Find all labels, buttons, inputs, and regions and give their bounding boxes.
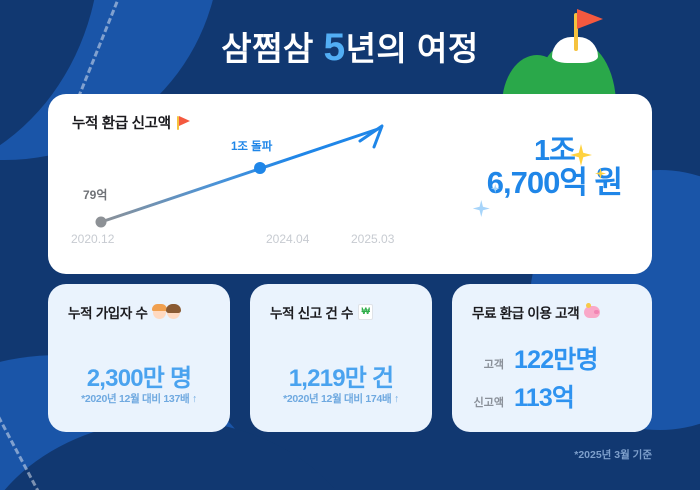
- total-refund-amount: 1조 6,700억 원: [487, 136, 622, 200]
- chart-xtick-2025-03: 2025.03: [351, 232, 394, 246]
- free-refund-row-customers: 고객 122만명: [470, 340, 598, 376]
- sparkle-icon-1: [570, 144, 592, 166]
- page-title-suffix: 년의 여정: [346, 30, 479, 67]
- free-refund-customers-label: 무료 환급 이용 고객: [472, 302, 600, 322]
- chart-point-label-2024-04: 1조 돌파: [231, 138, 272, 154]
- sparkle-icon-4: [491, 184, 500, 193]
- chart-xtick-2020-12: 2020.12: [71, 232, 114, 246]
- footer-note: *2025년 3월 기준: [574, 447, 652, 462]
- free-refund-customers-label-text: 무료 환급 이용 고객: [472, 302, 579, 322]
- total-refund-amount-line1: 1조: [487, 136, 622, 167]
- cumulative-filings-label-text: 누적 신고 건 수: [270, 302, 353, 322]
- cumulative-filings-note: *2020년 12월 대비 174배 ↑: [250, 391, 432, 406]
- growth-line-chart: 79억 1조 돌파 2020.12 2024.04 2025.03: [48, 94, 468, 274]
- cumulative-subscribers-card: 누적 가입자 수 2,300만 명 *2020년 12월 대비 137배 ↑: [48, 284, 230, 432]
- free-refund-row-amount-key: 신고액: [470, 394, 504, 410]
- sparkle-icon-2: [595, 168, 606, 179]
- cumulative-subscribers-value: 2,300만 명: [48, 358, 230, 393]
- chart-point-2024-04: [254, 162, 266, 174]
- cumulative-subscribers-label: 누적 가입자 수: [68, 302, 180, 322]
- chart-arrowhead-icon: [360, 126, 382, 147]
- sparkle-icon-3: [473, 200, 490, 217]
- growth-line-chart-svg: [48, 94, 468, 274]
- chart-point-label-2020-12: 79억: [83, 186, 107, 203]
- chart-point-2020-12: [96, 217, 107, 228]
- page-title-highlight: 5: [323, 26, 345, 69]
- page-title: 삼쩜삼 5년의 여정: [0, 22, 700, 70]
- free-refund-row-amount-value: 113억: [514, 378, 574, 414]
- people-icon: [153, 306, 180, 319]
- piggy-bank-icon: [584, 306, 600, 318]
- infographic-canvas: 삼쩜삼 5년의 여정 누적 환급 신고액: [0, 0, 700, 490]
- money-note-icon: ₩: [358, 304, 373, 320]
- free-refund-row-amount: 신고액 113억: [470, 378, 574, 414]
- cumulative-filings-value: 1,219만 건: [250, 358, 432, 393]
- page-title-prefix: 삼쩜삼: [221, 30, 323, 67]
- cumulative-filings-label: 누적 신고 건 수 ₩: [270, 302, 373, 322]
- cumulative-subscribers-note: *2020년 12월 대비 137배 ↑: [48, 391, 230, 406]
- cumulative-filings-card: 누적 신고 건 수 ₩ 1,219만 건 *2020년 12월 대비 174배 …: [250, 284, 432, 432]
- free-refund-customers-card: 무료 환급 이용 고객 고객 122만명 신고액 113억: [452, 284, 652, 432]
- cumulative-subscribers-label-text: 누적 가입자 수: [68, 302, 148, 322]
- cumulative-refund-card: 누적 환급 신고액 79억 1조 돌파: [48, 94, 652, 274]
- free-refund-row-customers-value: 122만명: [514, 340, 598, 376]
- chart-xtick-2024-04: 2024.04: [266, 232, 309, 246]
- free-refund-row-customers-key: 고객: [470, 356, 504, 372]
